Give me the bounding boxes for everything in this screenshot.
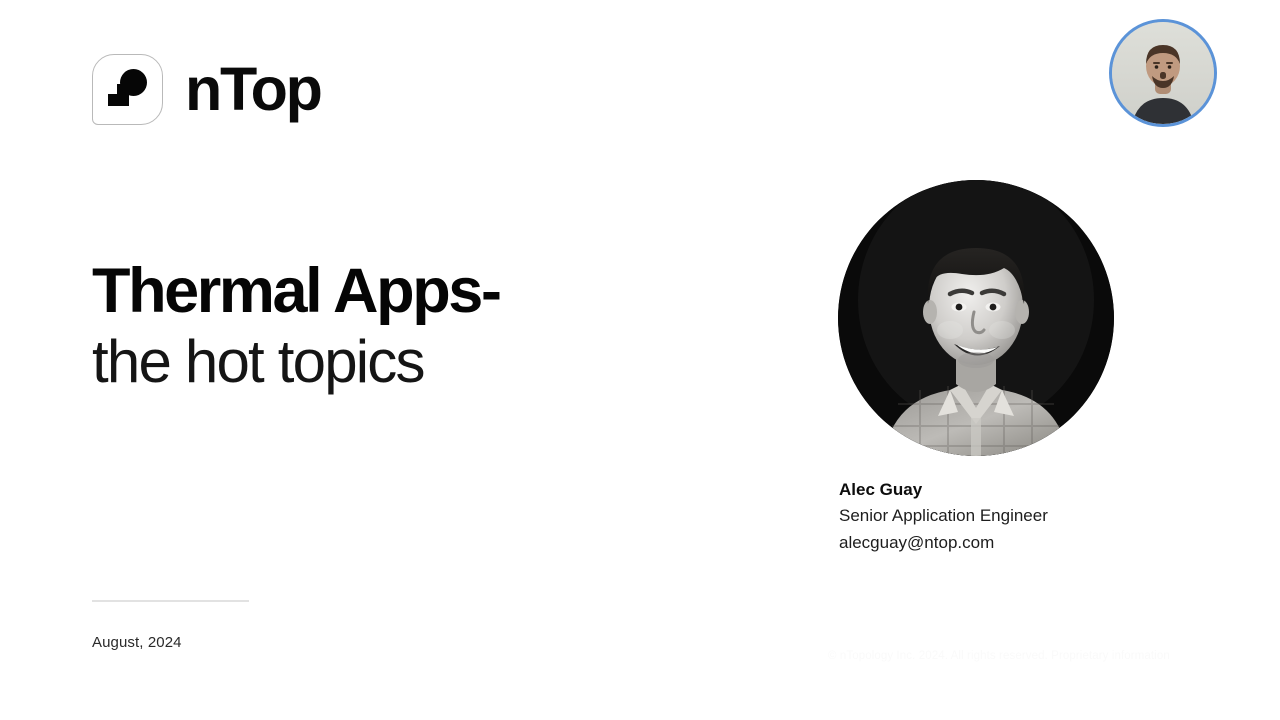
slide-title-secondary: the hot topics — [92, 329, 732, 395]
brand-lockup: nTop — [92, 54, 321, 125]
speaker-name: Alec Guay — [839, 477, 1169, 503]
speaker-portrait-icon — [838, 180, 1114, 456]
slide-title-primary: Thermal Apps- — [92, 258, 732, 325]
slide-title-block: Thermal Apps- the hot topics — [92, 258, 732, 395]
ntop-logo-icon — [92, 54, 163, 125]
presentation-slide: nTop — [0, 0, 1280, 720]
footer-divider — [92, 600, 249, 602]
legal-footer: © nTopology Inc. 2024. All rights reserv… — [828, 650, 1170, 662]
slide-date: August, 2024 — [92, 634, 182, 651]
speaker-role: Senior Application Engineer — [839, 503, 1169, 529]
ntop-wordmark: nTop — [185, 59, 321, 120]
webcam-video-feed-icon[interactable] — [1109, 19, 1217, 127]
speaker-email[interactable]: alecguay@ntop.com — [839, 530, 1169, 556]
speaker-info: Alec Guay Senior Application Engineer al… — [839, 477, 1169, 556]
